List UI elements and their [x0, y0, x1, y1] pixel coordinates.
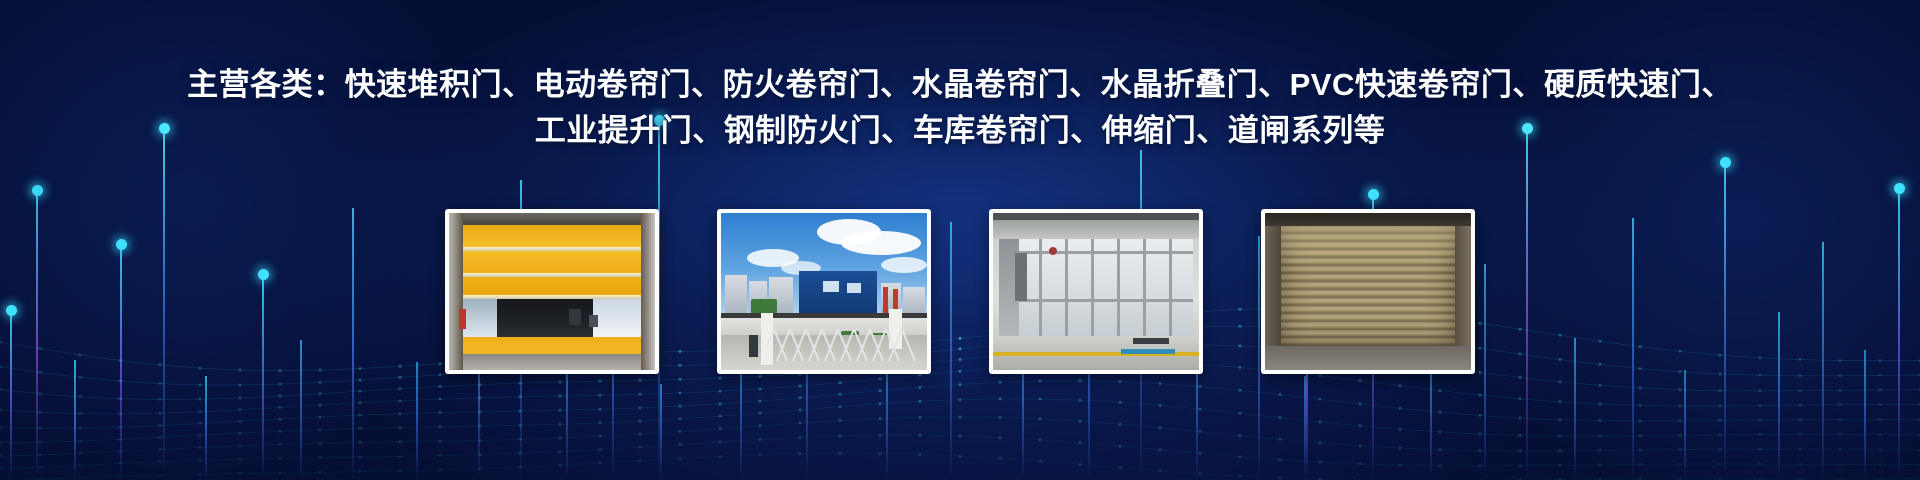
pin-stem — [886, 368, 888, 480]
pin-stem — [660, 384, 662, 480]
headline-line-2: 工业提升门、钢制防火门、车库卷帘门、伸缩门、道闸系列等 — [0, 108, 1920, 154]
rolling-shutter-door-image — [1265, 213, 1471, 370]
fast-stacking-door-image — [449, 213, 655, 370]
pin-line-9 — [416, 362, 418, 480]
rolling-shutter-door-photo[interactable]: 车库卷帘门 — [1261, 209, 1475, 374]
retractable-gate-image — [721, 213, 927, 370]
pin-stem — [205, 376, 207, 480]
pin-dot-icon — [1894, 183, 1905, 194]
pin-line-5 — [205, 376, 207, 480]
pin-dot-icon — [1368, 189, 1379, 200]
pin-dot-icon — [1720, 157, 1731, 168]
fast-stacking-door-photo[interactable]: 黄色快速堆积门 — [445, 209, 659, 374]
pin-stem — [1684, 370, 1686, 480]
pin-line-25 — [1304, 376, 1306, 480]
pin-line-33 — [1684, 370, 1686, 480]
headline-block: 主营各类：快速堆积门、电动卷帘门、防火卷帘门、水晶卷帘门、水晶折叠门、PVC快速… — [0, 62, 1920, 154]
pin-line-18 — [886, 368, 888, 480]
pin-stem — [416, 362, 418, 480]
product-gallery: 黄色快速堆积门 — [0, 209, 1920, 374]
pin-stem — [1304, 376, 1306, 480]
photo-2-alt: 电动伸缩门厂区实景 — [721, 370, 722, 371]
headline-line-1: 主营各类：快速堆积门、电动卷帘门、防火卷帘门、水晶卷帘门、水晶折叠门、PVC快速… — [0, 62, 1920, 108]
pin-line-2 — [74, 360, 76, 480]
photo-1-alt: 黄色快速堆积门 — [449, 370, 450, 371]
photo-3-alt: 水晶折叠门室内实景 — [993, 370, 994, 371]
promo-banner: 主营各类：快速堆积门、电动卷帘门、防火卷帘门、水晶卷帘门、水晶折叠门、PVC快速… — [0, 0, 1920, 480]
crystal-folding-door-image — [993, 213, 1199, 370]
pin-dot-icon — [32, 185, 43, 196]
pin-stem — [74, 360, 76, 480]
crystal-folding-door-photo[interactable]: 水晶折叠门室内实景 — [989, 209, 1203, 374]
pin-line-14 — [660, 384, 662, 480]
retractable-gate-photo[interactable]: 电动伸缩门厂区实景 — [717, 209, 931, 374]
photo-4-alt: 车库卷帘门 — [1265, 370, 1266, 371]
